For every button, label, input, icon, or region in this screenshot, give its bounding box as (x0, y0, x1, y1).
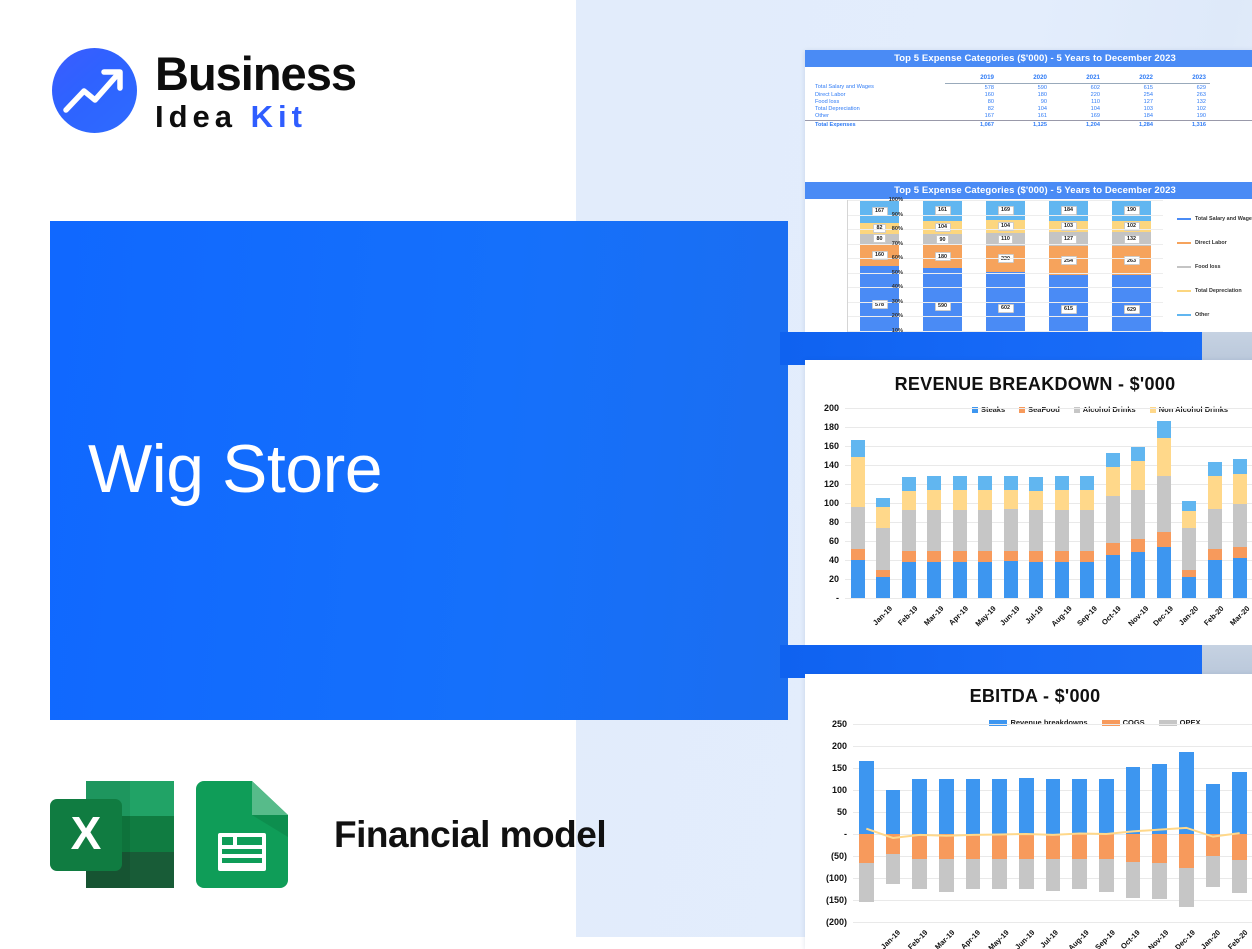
x-axis-label: Jul-19 (1039, 928, 1061, 949)
gridline (845, 465, 1252, 466)
table-total-row: Total Expenses 1,067 1,125 1,204 1,284 1… (805, 120, 1252, 128)
x-axis-label: Apr-19 (959, 928, 982, 949)
bar-value-label: 180 (935, 252, 951, 261)
bar-segment (927, 476, 941, 489)
bar-segment (1106, 467, 1120, 496)
bar-segment (978, 562, 992, 598)
bar-segment (978, 476, 992, 489)
bar-Jun-19 (978, 476, 992, 598)
bar-value-label: 602 (998, 304, 1014, 313)
x-axis-label: May-19 (986, 928, 1010, 949)
legend-swatch (1177, 314, 1191, 316)
brand-logo: Business Idea Kit (52, 48, 356, 133)
bar-segment (978, 551, 992, 561)
bar-segment (1157, 421, 1171, 438)
bar-segment (1080, 551, 1094, 561)
bar-value-label: 169 (998, 206, 1014, 215)
gridline (845, 446, 1252, 447)
x-axis-label: Dec-19 (1173, 928, 1197, 949)
x-axis-label: Jun-19 (998, 604, 1021, 627)
bar-Dec-19 (1131, 447, 1145, 598)
gridline (853, 922, 1252, 923)
bar-segment (1233, 547, 1247, 558)
bar-segment (876, 528, 890, 571)
bar-segment (1004, 476, 1018, 489)
bar-Jul-19 (1004, 476, 1018, 598)
bar-segment (1233, 474, 1247, 504)
x-axis-label: Feb-19 (906, 928, 929, 949)
bar-segment (1106, 555, 1120, 598)
bar-segment (1029, 551, 1043, 561)
bar-segment (876, 498, 890, 507)
bar-segment (1182, 570, 1196, 577)
bar-2021: 169104110220602 (986, 200, 1025, 332)
y-axis-label: 180 (805, 422, 839, 432)
bar-segment (876, 507, 890, 528)
bar-segment (1029, 562, 1043, 598)
bar-segment (1004, 561, 1018, 598)
bar-segment (1182, 577, 1196, 598)
x-axis-label: Mar-19 (933, 928, 956, 949)
bar-segment (1080, 490, 1094, 510)
bar-Apr-20 (1233, 459, 1247, 598)
y-axis-label: - (805, 593, 839, 603)
bar-segment (953, 510, 967, 552)
legend-swatch (1177, 242, 1191, 244)
y-axis-label: (200) (805, 917, 847, 927)
bar-segment (1106, 543, 1120, 555)
table-row: Food loss 80 90 110 127 132 (805, 98, 1252, 105)
bar-segment (851, 507, 865, 549)
bar-segment (1208, 509, 1222, 549)
bar-segment (902, 551, 916, 561)
y-axis-label: 30% (892, 299, 903, 305)
y-axis-label: 70% (892, 241, 903, 247)
y-axis-label: 50% (892, 270, 903, 276)
bar-segment (1157, 547, 1171, 598)
bar-Jan-20 (1157, 421, 1171, 598)
expense-chart-legend: Total Salary and WagesDirect LaborFood l… (1177, 216, 1252, 332)
bar-segment (851, 440, 865, 456)
col-2023: 2023 (1157, 74, 1210, 84)
bar-segment (902, 477, 916, 490)
bar-Feb-20 (1182, 501, 1196, 598)
legend-swatch (1177, 218, 1191, 220)
y-axis-label: 80 (805, 517, 839, 527)
bar-segment (1208, 462, 1222, 475)
y-axis-label: 80% (892, 226, 903, 232)
bar-segment (1157, 438, 1171, 476)
bar-segment (1055, 510, 1069, 552)
y-axis-label: 20% (892, 313, 903, 319)
bar-segment (927, 562, 941, 598)
col-2020: 2020 (998, 74, 1051, 84)
legend-item: Food loss (1177, 264, 1252, 270)
x-axis-label: Nov-19 (1146, 928, 1170, 949)
bar-segment (978, 510, 992, 552)
bar-segment (1004, 509, 1018, 551)
legend-item: Total Depreciation (1177, 288, 1252, 294)
bar-segment (927, 490, 941, 510)
bar-segment (851, 457, 865, 507)
bar-segment (876, 577, 890, 598)
legend-label: Food loss (1195, 264, 1220, 270)
gridline (845, 427, 1252, 428)
x-axis-label: Nov-19 (1126, 604, 1150, 628)
expense-table: 2019 2020 2021 2022 2023 Total Salary an… (805, 74, 1252, 129)
trend-arrow-glyph (52, 48, 137, 133)
bar-segment (1080, 562, 1094, 598)
y-axis-label: 140 (805, 460, 839, 470)
revenue-plot-area (845, 408, 1252, 598)
x-axis-label: Jun-19 (1013, 928, 1036, 949)
bar-Nov-19 (1106, 453, 1120, 598)
bar-segment (1208, 476, 1222, 509)
ebitda-chart-title: EBITDA - $'000 (805, 686, 1252, 707)
y-axis-label: 60% (892, 255, 903, 261)
chart-trend-circle-icon (52, 48, 137, 133)
bar-segment (1029, 491, 1043, 510)
x-axis-label: Jan-20 (1177, 604, 1200, 627)
y-axis-label: 200 (805, 403, 839, 413)
y-axis-label: (50) (805, 851, 847, 861)
table-row: Direct Labor 160 180 220 254 263 (805, 91, 1252, 98)
col-2019: 2019 (945, 74, 998, 84)
format-label: Financial model (334, 814, 606, 856)
x-axis-label: May-19 (973, 604, 997, 628)
bar-Mar-20 (1208, 462, 1222, 598)
bar-segment (927, 510, 941, 552)
bar-Oct-19 (1080, 476, 1094, 598)
legend-item: Other (1177, 312, 1252, 318)
ebitda-plot-area (853, 724, 1252, 922)
x-axis-label: Aug-19 (1066, 928, 1090, 949)
bar-segment (1029, 477, 1043, 490)
expense-stacked-chart: 1678280160578161104901805901691041102206… (805, 192, 1252, 332)
x-axis-label: Mar-19 (922, 604, 945, 627)
y-axis-label: 100 (805, 498, 839, 508)
ebitda-line (853, 724, 1252, 922)
bar-segment (1029, 510, 1043, 552)
page-title: Wig Store (88, 430, 382, 508)
table-header-row: 2019 2020 2021 2022 2023 (805, 74, 1252, 84)
table-row: Other 167 161 169 184 190 (805, 113, 1252, 121)
bar-value-label: 615 (1061, 305, 1077, 314)
y-axis-label: 90% (892, 212, 903, 218)
x-axis-label: Feb-20 (1226, 928, 1249, 949)
brand-name-line2-accent: Kit (251, 99, 307, 134)
bar-segment (1233, 459, 1247, 473)
bar-value-label: 629 (1124, 305, 1140, 314)
x-axis-label: Aug-19 (1050, 604, 1074, 628)
x-axis-label: Sep-19 (1075, 604, 1099, 628)
bar-value-label: 80 (873, 234, 886, 243)
bar-segment (953, 551, 967, 561)
bar-segment (1157, 532, 1171, 547)
bar-segment (851, 560, 865, 598)
bar-2020: 16110490180590 (923, 200, 962, 332)
bar-Mar-19 (902, 477, 916, 598)
y-axis-label: 60 (805, 536, 839, 546)
x-axis-label: Jan-19 (871, 604, 894, 627)
y-axis-label: 40% (892, 284, 903, 290)
y-axis-label: 40 (805, 555, 839, 565)
legend-swatch (1177, 290, 1191, 292)
bar-segment (1131, 539, 1145, 552)
bar-segment (1131, 552, 1145, 598)
expense-table-title: Top 5 Expense Categories ($'000) - 5 Yea… (805, 50, 1252, 67)
legend-label: Total Depreciation (1195, 288, 1242, 294)
bar-2023: 190102132263629 (1112, 200, 1151, 332)
bar-value-label: 184 (1061, 206, 1077, 215)
y-axis-label: 200 (805, 741, 847, 751)
bar-segment (1055, 562, 1069, 598)
revenue-chart-title: REVENUE BREAKDOWN - $'000 (805, 374, 1252, 395)
x-axis-label: Feb-20 (1202, 604, 1225, 627)
bar-segment (1106, 453, 1120, 467)
bar-Sep-19 (1055, 476, 1069, 598)
bar-segment (927, 551, 941, 561)
bar-segment (902, 510, 916, 552)
bar-value-label: 132 (1124, 235, 1140, 244)
legend-swatch (1177, 266, 1191, 268)
microsoft-excel-icon: X (50, 781, 174, 888)
col-2022: 2022 (1104, 74, 1157, 84)
bar-segment (1131, 461, 1145, 489)
bar-segment (1182, 501, 1196, 510)
bar-segment (1080, 510, 1094, 552)
bar-segment (1055, 490, 1069, 510)
x-axis-label: Oct-19 (1119, 928, 1142, 949)
y-axis-label: (150) (805, 895, 847, 905)
bar-segment (1004, 490, 1018, 509)
y-axis-label: 150 (805, 763, 847, 773)
bar-Apr-19 (927, 476, 941, 598)
google-sheets-icon (196, 781, 288, 888)
table-row: Total Depreciation 82 104 104 103 102 (805, 106, 1252, 113)
bar-segment (953, 490, 967, 510)
brand-name-line1: Business (155, 50, 356, 97)
bar-segment (902, 491, 916, 510)
bar-segment (1182, 528, 1196, 571)
legend-item: Direct Labor (1177, 240, 1252, 246)
x-axis-label: Jul-19 (1023, 604, 1045, 626)
svg-text:X: X (71, 807, 102, 859)
bar-segment (876, 570, 890, 577)
x-axis-label: Jan-19 (879, 928, 902, 949)
bar-segment (902, 562, 916, 598)
bar-segment (1208, 549, 1222, 560)
expense-chart-card: Top 5 Expense Categories ($'000) - 5 Yea… (805, 50, 1252, 332)
y-axis-label: (100) (805, 873, 847, 883)
bar-segment (1080, 476, 1094, 489)
bar-segment (1233, 558, 1247, 598)
bar-segment (1131, 490, 1145, 539)
bar-segment (851, 549, 865, 560)
y-axis-label: 120 (805, 479, 839, 489)
x-axis-label: Jan-20 (1199, 928, 1222, 949)
legend-label: Other (1195, 312, 1209, 318)
bar-segment (978, 490, 992, 510)
x-axis-label: Mar-20 (1228, 604, 1251, 627)
y-axis-label: 100% (889, 197, 903, 203)
bar-segment (1233, 504, 1247, 547)
bar-value-label: 110 (998, 235, 1014, 244)
bar-segment (953, 476, 967, 489)
col-2021: 2021 (1051, 74, 1104, 84)
y-axis-label: - (805, 829, 847, 839)
format-icons-row: X Financial model (50, 781, 606, 888)
legend-label: Total Salary and Wages (1195, 216, 1252, 222)
bar-2022: 184103127254615 (1049, 200, 1088, 332)
gridline (845, 408, 1252, 409)
bar-segment (1131, 447, 1145, 461)
bar-value-label: 161 (935, 206, 951, 215)
bar-segment (1004, 551, 1018, 561)
y-axis-label: 160 (805, 441, 839, 451)
bar-segment (1157, 476, 1171, 531)
ebitda-chart-card: EBITDA - $'000 Revenue breakdownsCOGSOPE… (805, 674, 1252, 949)
bar-segment (1055, 551, 1069, 561)
bar-Feb-19 (876, 498, 890, 598)
revenue-chart-card: REVENUE BREAKDOWN - $'000 SteaksSeaFoodA… (805, 360, 1252, 645)
x-axis-label: Feb-19 (896, 604, 919, 627)
bar-Jan-19 (851, 440, 865, 598)
table-row: Total Salary and Wages 578 590 602 615 6… (805, 84, 1252, 92)
y-axis-label: 20 (805, 574, 839, 584)
x-axis-label: Sep-19 (1093, 928, 1117, 949)
x-axis-label: Apr-19 (947, 604, 970, 627)
bar-value-label: 104 (935, 223, 951, 232)
x-axis-label: Dec-19 (1151, 604, 1175, 628)
y-axis-label: 50 (805, 807, 847, 817)
y-axis-label: 250 (805, 719, 847, 729)
bar-segment (1055, 476, 1069, 489)
legend-item: Total Salary and Wages (1177, 216, 1252, 222)
bar-segment (953, 562, 967, 598)
gridline (845, 598, 1252, 599)
bar-segment (1182, 511, 1196, 528)
bar-segment (1106, 496, 1120, 543)
legend-label: Direct Labor (1195, 240, 1227, 246)
bar-May-19 (953, 476, 967, 598)
x-axis-label: Oct-19 (1100, 604, 1123, 627)
bar-segment (1208, 560, 1222, 598)
bar-value-label: 127 (1061, 235, 1077, 244)
y-axis-label: 100 (805, 785, 847, 795)
brand-name-line2-dark: Idea (155, 99, 237, 134)
bar-Aug-19 (1029, 477, 1043, 598)
bar-value-label: 590 (935, 302, 951, 311)
